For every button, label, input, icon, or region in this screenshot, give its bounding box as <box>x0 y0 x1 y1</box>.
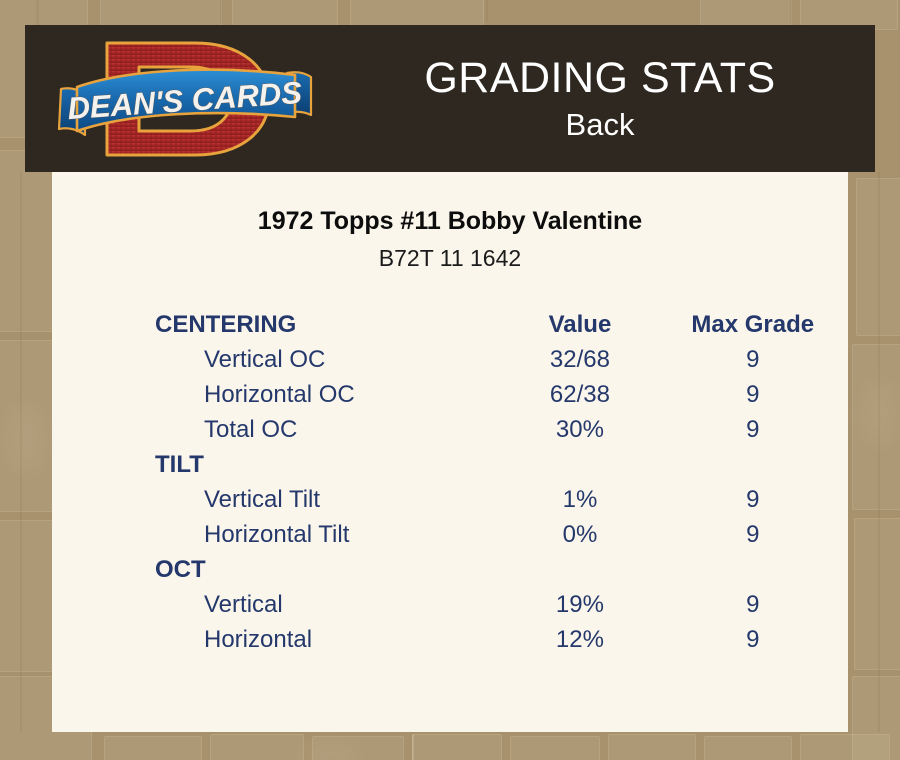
row-value: 0% <box>502 517 657 552</box>
row-max-grade: 9 <box>658 517 848 552</box>
row-max-grade: 9 <box>658 377 848 412</box>
row-label: Vertical OC <box>52 342 502 377</box>
table-header-row: CENTERING Value Max Grade <box>52 307 848 342</box>
column-header-max-grade: Max Grade <box>658 307 848 342</box>
card-title-block: 1972 Topps #11 Bobby Valentine B72T 11 1… <box>52 206 848 273</box>
deans-cards-logo[interactable]: DEAN'S CARDS <box>55 31 315 167</box>
table-section-header-row: OCT <box>52 552 848 587</box>
card-title: 1972 Topps #11 Bobby Valentine <box>52 206 848 237</box>
table-section-header-row: TILT <box>52 447 848 482</box>
table-row: Vertical Tilt 1% 9 <box>52 482 848 517</box>
content-panel: 1972 Topps #11 Bobby Valentine B72T 11 1… <box>52 172 848 732</box>
page-subtitle: Back <box>566 105 635 145</box>
section-header-spacer-grade <box>658 552 848 587</box>
section-header-oct: OCT <box>52 552 502 587</box>
grading-stats-table: CENTERING Value Max Grade Vertical OC 32… <box>52 307 848 657</box>
row-max-grade: 9 <box>658 622 848 657</box>
row-label: Horizontal <box>52 622 502 657</box>
column-header-value: Value <box>502 307 657 342</box>
row-label: Vertical <box>52 587 502 622</box>
table-row: Vertical OC 32/68 9 <box>52 342 848 377</box>
row-label: Total OC <box>52 412 502 447</box>
table-row: Horizontal Tilt 0% 9 <box>52 517 848 552</box>
row-max-grade: 9 <box>658 342 848 377</box>
row-label: Vertical Tilt <box>52 482 502 517</box>
section-header-spacer-value <box>502 447 657 482</box>
row-max-grade: 9 <box>658 412 848 447</box>
row-value: 32/68 <box>502 342 657 377</box>
row-value: 12% <box>502 622 657 657</box>
row-max-grade: 9 <box>658 482 848 517</box>
section-header-tilt: TILT <box>52 447 502 482</box>
header-bar: DEAN'S CARDS GRADING STATS Back <box>25 25 875 172</box>
section-header-spacer-grade <box>658 447 848 482</box>
row-max-grade: 9 <box>658 587 848 622</box>
table-row: Total OC 30% 9 <box>52 412 848 447</box>
row-label: Horizontal Tilt <box>52 517 502 552</box>
row-value: 1% <box>502 482 657 517</box>
section-header-spacer-value <box>502 552 657 587</box>
page-title: GRADING STATS <box>424 53 775 103</box>
card-sku: B72T 11 1642 <box>52 243 848 273</box>
row-value: 30% <box>502 412 657 447</box>
table-row: Horizontal OC 62/38 9 <box>52 377 848 412</box>
row-label: Horizontal OC <box>52 377 502 412</box>
row-value: 62/38 <box>502 377 657 412</box>
table-row: Vertical 19% 9 <box>52 587 848 622</box>
header-title-group: GRADING STATS Back <box>325 25 875 172</box>
table-row: Horizontal 12% 9 <box>52 622 848 657</box>
row-value: 19% <box>502 587 657 622</box>
column-header-section: CENTERING <box>52 307 502 342</box>
